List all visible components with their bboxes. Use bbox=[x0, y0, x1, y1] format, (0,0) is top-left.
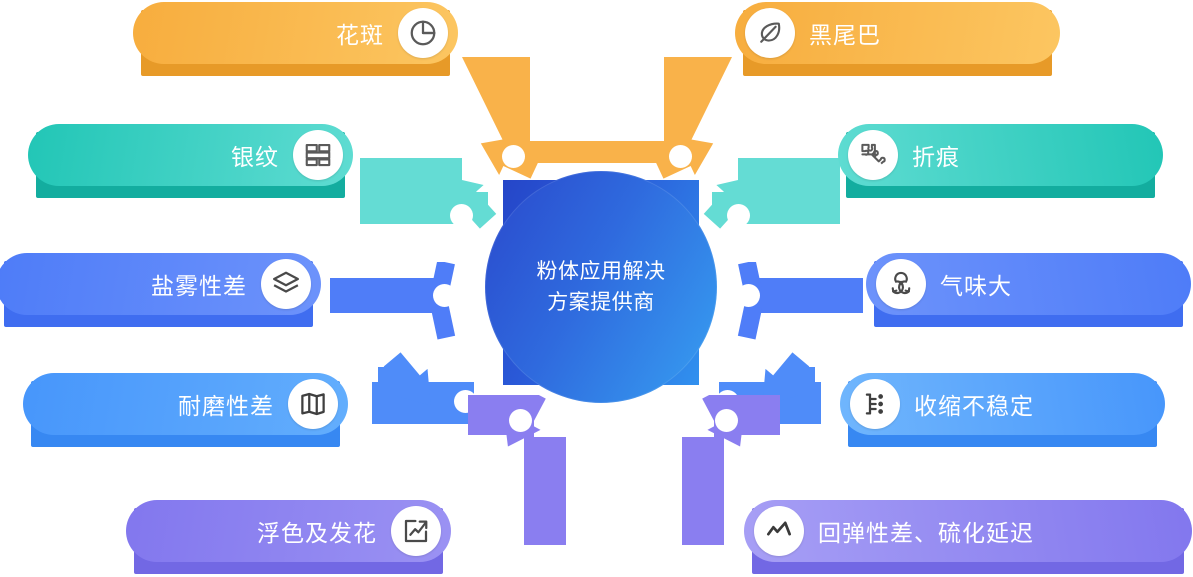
pie-chart-icon bbox=[398, 8, 448, 58]
layers-icon bbox=[261, 259, 311, 309]
connector-dot bbox=[715, 409, 738, 432]
center-label: 粉体应用解决 方案提供商 bbox=[485, 171, 717, 403]
puzzle-icon bbox=[848, 130, 898, 180]
brick-wall-icon bbox=[293, 130, 343, 180]
item-label: 回弹性差、硫化延迟 bbox=[818, 514, 1034, 548]
sitemap-icon bbox=[850, 379, 900, 429]
connector-dot bbox=[450, 204, 473, 227]
item-label: 折痕 bbox=[912, 138, 960, 172]
open-book-icon bbox=[288, 379, 338, 429]
infographic-canvas: 粉体应用解决 方案提供商 花斑 银纹 bbox=[0, 0, 1193, 577]
item-label: 花斑 bbox=[336, 16, 384, 50]
recycle-icon bbox=[876, 259, 926, 309]
item-card-left-1[interactable]: 花斑 bbox=[133, 2, 458, 72]
item-label: 浮色及发花 bbox=[257, 514, 377, 548]
item-card-left-2[interactable]: 银纹 bbox=[28, 124, 353, 194]
card-body[interactable]: 收缩不稳定 bbox=[840, 373, 1165, 435]
item-card-right-2[interactable]: 折痕 bbox=[838, 124, 1163, 194]
item-label: 盐雾性差 bbox=[151, 267, 247, 301]
item-label: 银纹 bbox=[231, 138, 279, 172]
connector-purple-left bbox=[468, 395, 618, 550]
item-label: 黑尾巴 bbox=[809, 16, 881, 50]
item-card-left-3[interactable]: 盐雾性差 bbox=[0, 253, 321, 323]
item-card-right-1[interactable]: 黑尾巴 bbox=[735, 2, 1060, 72]
card-body[interactable]: 气味大 bbox=[866, 253, 1191, 315]
item-card-left-5[interactable]: 浮色及发花 bbox=[126, 500, 451, 570]
card-body[interactable]: 盐雾性差 bbox=[0, 253, 321, 315]
item-label: 耐磨性差 bbox=[178, 387, 274, 421]
card-body[interactable]: 耐磨性差 bbox=[23, 373, 348, 435]
item-card-right-4[interactable]: 收缩不稳定 bbox=[840, 373, 1165, 443]
trend-up-icon bbox=[391, 506, 441, 556]
item-label: 收缩不稳定 bbox=[914, 387, 1034, 421]
connector-dot bbox=[433, 284, 456, 307]
line-chart-icon bbox=[754, 506, 804, 556]
card-body[interactable]: 回弹性差、硫化延迟 bbox=[744, 500, 1192, 562]
item-card-left-4[interactable]: 耐磨性差 bbox=[23, 373, 348, 443]
item-label: 气味大 bbox=[940, 267, 1012, 301]
card-body[interactable]: 银纹 bbox=[28, 124, 353, 186]
center-node: 粉体应用解决 方案提供商 bbox=[503, 180, 699, 385]
item-card-right-5[interactable]: 回弹性差、硫化延迟 bbox=[744, 500, 1192, 570]
connector-dot bbox=[737, 284, 760, 307]
connector-dot bbox=[509, 409, 532, 432]
card-body[interactable]: 黑尾巴 bbox=[735, 2, 1060, 64]
card-body[interactable]: 浮色及发花 bbox=[126, 500, 451, 562]
connector-dot bbox=[669, 145, 692, 168]
item-card-right-3[interactable]: 气味大 bbox=[866, 253, 1191, 323]
connector-dot bbox=[727, 204, 750, 227]
card-body[interactable]: 花斑 bbox=[133, 2, 458, 64]
card-body[interactable]: 折痕 bbox=[838, 124, 1163, 186]
leaf-icon bbox=[745, 8, 795, 58]
